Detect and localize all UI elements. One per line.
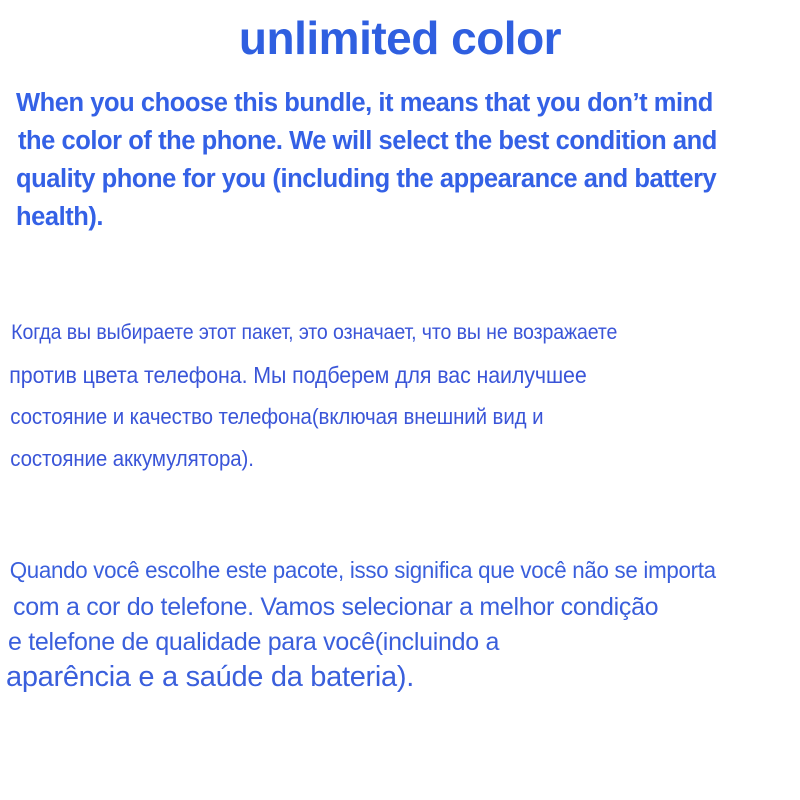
paragraph-line: quality phone for you (including the app… — [0, 160, 800, 198]
paragraph-line: против цвета телефона. Мы подберем для в… — [0, 354, 744, 396]
page-title: unlimited color — [0, 12, 800, 65]
paragraph-line: the color of the phone. We will select t… — [0, 122, 800, 160]
description-paragraph-russian: Когда вы выбираете этот пакет, это означ… — [0, 312, 800, 480]
description-paragraph-portuguese: Quando você escolhe este pacote, isso si… — [0, 552, 800, 696]
paragraph-line: aparência e a saúde da bateria). — [0, 658, 800, 696]
paragraph-line: Когда вы выбираете этот пакет, это означ… — [0, 312, 744, 354]
paragraph-line: e telefone de qualidade para você(inclui… — [0, 626, 800, 658]
description-paragraph-english: When you choose this bundle, it means th… — [0, 84, 800, 236]
product-description-image: unlimited color When you choose this bun… — [0, 0, 800, 800]
paragraph-line: состояние и качество телефона(включая вн… — [0, 396, 744, 438]
paragraph-line: состояние аккумулятора). — [0, 438, 744, 480]
paragraph-line: Quando você escolhe este pacote, isso si… — [0, 552, 776, 588]
paragraph-line: When you choose this bundle, it means th… — [0, 84, 800, 122]
paragraph-line: com a cor do telefone. Vamos selecionar … — [0, 588, 800, 626]
paragraph-line: health). — [0, 198, 800, 236]
